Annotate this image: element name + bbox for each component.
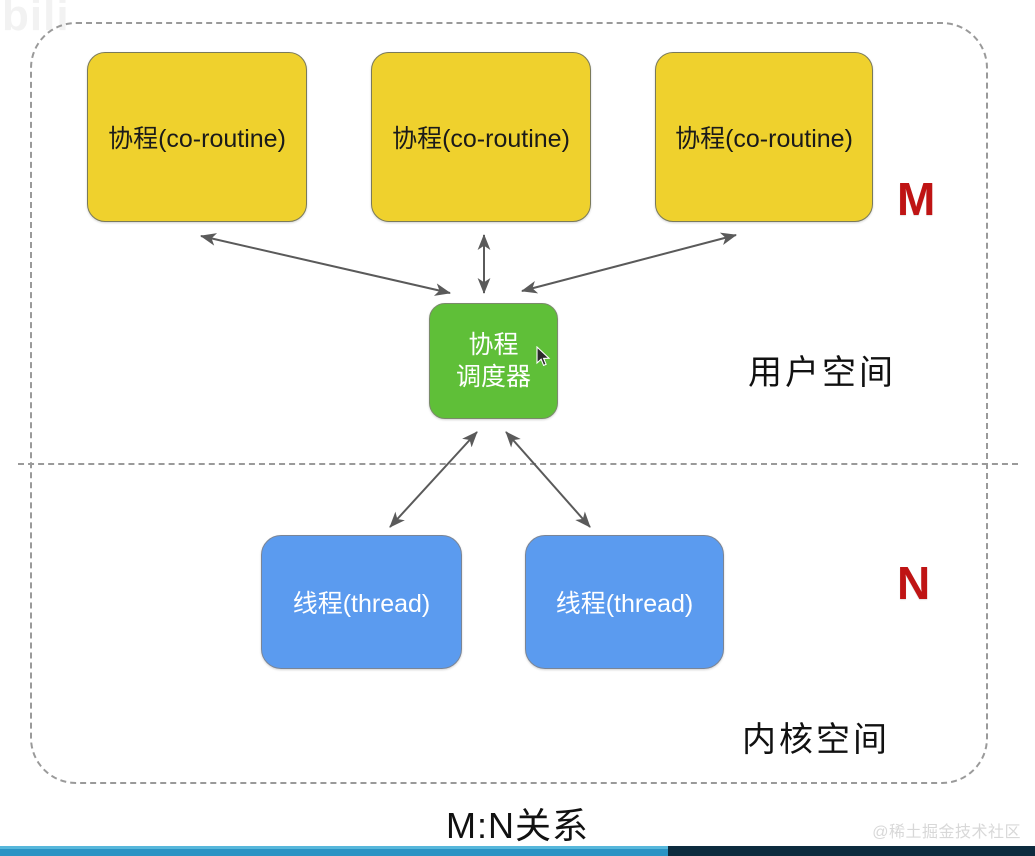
coroutine-box-1: 协程(co-routine) [87,52,307,222]
thread-box-1: 线程(thread) [261,535,462,669]
user-kernel-divider [18,463,1018,465]
kernel-space-label: 内核空间 [742,712,890,761]
coroutine-box-2: 协程(co-routine) [371,52,591,222]
video-frame: bili 协程(co-routine) 协程(co-routine) 协程(co… [0,0,1035,856]
video-progress-fill [0,846,668,856]
scheduler-label-line1: 协程 [456,329,531,361]
coroutine-box-3-label: 协程(co-routine) [675,119,853,155]
scheduler-label-line2: 调度器 [456,361,531,393]
video-progress-highlight [0,846,668,849]
thread-box-2-label: 线程(thread) [556,584,694,620]
community-watermark: @稀土掘金技术社区 [872,818,1021,842]
ratio-letter-m: M [897,176,935,222]
thread-box-1-label: 线程(thread) [293,584,431,620]
user-space-label: 用户空间 [748,345,896,394]
mouse-cursor [536,346,552,368]
video-progress-track[interactable] [0,846,1035,856]
coroutine-box-1-label: 协程(co-routine) [108,119,286,155]
coroutine-box-2-label: 协程(co-routine) [392,119,570,155]
coroutine-box-3: 协程(co-routine) [655,52,873,222]
thread-box-2: 线程(thread) [525,535,724,669]
ratio-letter-n: N [897,560,930,606]
